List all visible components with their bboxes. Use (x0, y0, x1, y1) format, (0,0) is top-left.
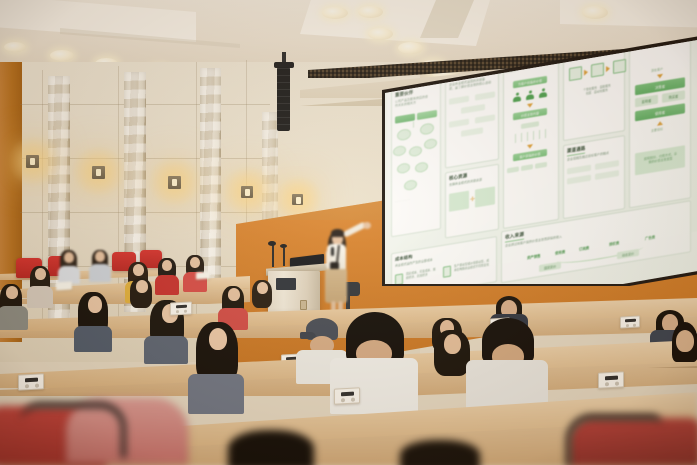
lectern-label (300, 300, 307, 310)
audience-torso (144, 336, 188, 364)
desk-power-outlet[interactable] (620, 315, 640, 328)
audience-head (209, 328, 227, 350)
lecture-hall-photo: 重要伙伴 公司产品及服务供应的合 作关系的相关方 · · · · · · · ·… (0, 0, 697, 465)
outlet-socket (184, 310, 187, 313)
outlet-socket (35, 384, 39, 388)
audience-torso (155, 275, 179, 295)
outlet-socket (25, 384, 29, 388)
audience-head (64, 252, 74, 263)
outlet-slot (605, 376, 618, 381)
outlet-socket (633, 324, 636, 327)
seat-frame-foreground (566, 414, 662, 465)
desk-power-outlet[interactable] (334, 387, 360, 404)
presenter-hair (331, 229, 344, 237)
audience-torso (188, 374, 244, 414)
audience-head (190, 257, 200, 268)
projection-screen[interactable]: 重要伙伴 公司产品及服务供应的合 作关系的相关方 · · · · · · · ·… (366, 36, 697, 286)
outlet-socket (605, 382, 609, 386)
desk-power-outlet[interactable] (598, 371, 624, 388)
microphone-head (280, 244, 287, 248)
outlet-slot (341, 392, 354, 397)
line-array-speaker (277, 67, 290, 131)
handheld-microphone[interactable] (331, 247, 334, 256)
audience-torso (0, 306, 28, 330)
panel-header: 价值主张 (507, 55, 525, 64)
audience-head (35, 268, 46, 280)
outlet-socket (351, 398, 355, 402)
microphone-stand (283, 248, 285, 266)
audience-head (162, 260, 172, 271)
outlet-socket (176, 310, 179, 313)
ceiling-downlight (4, 42, 26, 52)
audience-head (444, 334, 461, 354)
seat-frame-foreground (20, 402, 126, 458)
audience-head (676, 330, 694, 352)
acoustic-panel-recess (200, 68, 221, 283)
desk-power-outlet[interactable] (18, 373, 44, 390)
outlet-socket (615, 382, 619, 386)
wall-sconce (26, 155, 39, 168)
wall-sconce (92, 166, 105, 179)
desk-power-outlet[interactable] (170, 301, 192, 315)
audience-head (257, 282, 268, 294)
presenter-hand (363, 222, 371, 229)
desk-paper (196, 272, 210, 280)
audience-head-foreground (400, 440, 480, 465)
audience-head (228, 288, 240, 301)
ceiling-downlight (322, 7, 348, 19)
audience-torso (74, 326, 112, 352)
audience-head (95, 251, 105, 262)
screen-glare (369, 38, 697, 284)
ceiling-downlight (50, 50, 74, 61)
audience-head (6, 286, 18, 299)
wall-sconce (241, 186, 253, 198)
screen-surface: 重要伙伴 公司产品及服务供应的合 作关系的相关方 · · · · · · · ·… (369, 38, 697, 284)
ceiling-downlight (582, 6, 608, 19)
audience-torso (89, 264, 111, 282)
microphone-head (268, 241, 276, 246)
outlet-slot (625, 319, 636, 323)
audience-head (136, 280, 148, 293)
audience-torso (27, 286, 53, 308)
panel-header: 客户关系 (567, 38, 586, 45)
lectern-control-panel[interactable] (276, 278, 296, 290)
outlet-socket (626, 324, 629, 327)
audience-head (133, 264, 144, 276)
audience-head (88, 296, 102, 313)
microphone-stand (272, 245, 274, 267)
desk-paper (56, 281, 72, 290)
outlet-socket (341, 398, 345, 402)
audience-torso (330, 358, 418, 414)
outlet-slot (25, 378, 38, 383)
presenter-skirt (325, 269, 347, 303)
wall-sconce (292, 194, 303, 205)
ceiling-downlight (358, 6, 383, 18)
wall-sconce (168, 176, 181, 189)
outlet-slot (176, 305, 187, 309)
audience-head-foreground (228, 430, 314, 465)
